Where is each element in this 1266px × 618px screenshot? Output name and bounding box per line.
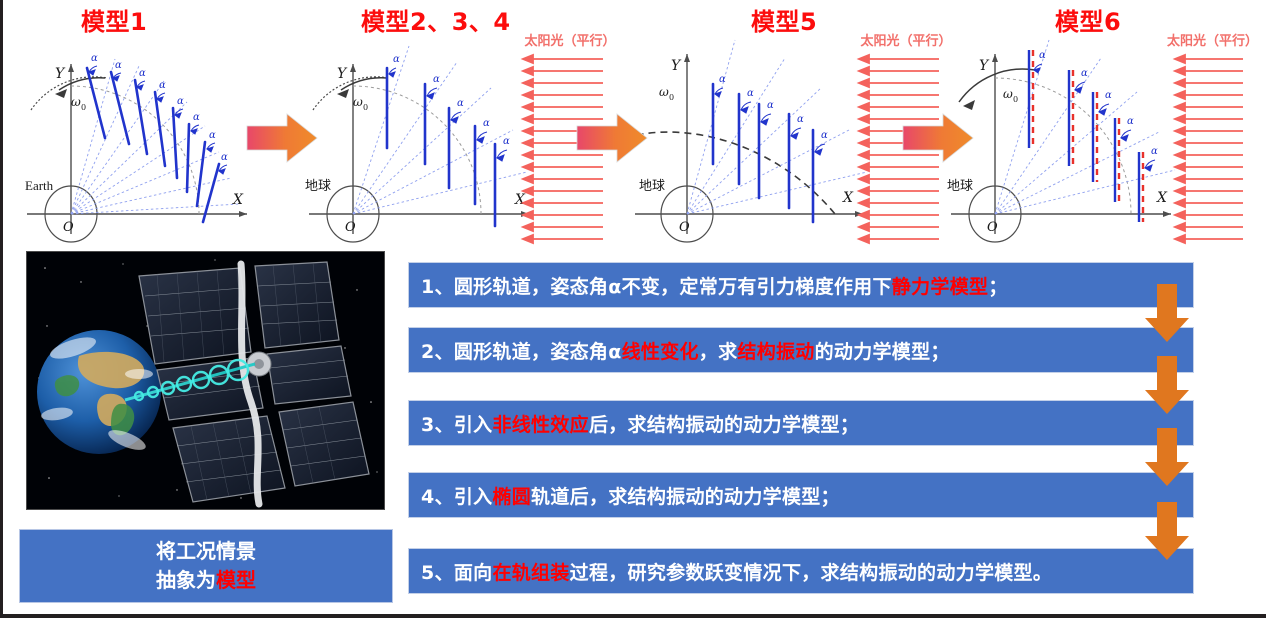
- svg-text:α: α: [719, 74, 726, 85]
- earth-label-5: 地球: [639, 179, 665, 194]
- model-bar-5-seg-0: 面向: [454, 558, 493, 585]
- sunlight-group-3: 太阳光（平行）: [1167, 30, 1266, 254]
- svg-text:X: X: [232, 192, 244, 208]
- svg-text:α: α: [1039, 50, 1046, 61]
- slide-canvas: 模型1 模型2、3、4 模型5 模型6: [3, 0, 1266, 618]
- svg-text:Y: Y: [55, 66, 66, 82]
- caption-line-2-plain: 抽象为: [156, 568, 216, 592]
- bottom-divider: [3, 614, 1266, 618]
- model-bar-2-index: 2、: [421, 337, 454, 364]
- svg-text:Y: Y: [671, 58, 682, 74]
- model-bar-5-seg-2: 过程，研究参数跃变情况下，求结构振动的动力学模型。: [570, 558, 1053, 585]
- transition-arrow-1: [245, 108, 321, 173]
- svg-text:ω: ω: [659, 85, 669, 99]
- svg-text:ω: ω: [71, 95, 81, 109]
- svg-text:α: α: [797, 114, 804, 125]
- flow-arrow-1: [1143, 284, 1195, 349]
- model-bar-4-seg-2: 轨道后，求结构振动的动力学模型；: [531, 482, 840, 509]
- svg-text:α: α: [1105, 90, 1112, 101]
- model-bar-4[interactable]: 4、引入椭圆轨道后，求结构振动的动力学模型；: [408, 472, 1194, 518]
- model-bar-2-seg-2: ，求: [699, 337, 738, 364]
- svg-text:α: α: [209, 130, 216, 141]
- svg-text:α: α: [115, 60, 122, 71]
- diagram-model-234: αα αα α 地球 Y X O ω 0: [301, 26, 551, 248]
- svg-text:α: α: [457, 98, 464, 109]
- sunlight-label-1: 太阳光（平行）: [515, 30, 625, 49]
- transition-arrow-2: [575, 108, 651, 173]
- flow-arrow-4: [1143, 502, 1195, 567]
- model-bar-1-seg-0: 圆形轨道，姿态角α不变，定常万有引力梯度作用下: [454, 272, 892, 299]
- model-bar-2-seg-3: 结构振动: [737, 337, 814, 364]
- svg-text:0: 0: [1013, 95, 1018, 104]
- caption-line-2-highlight: 模型: [216, 568, 256, 592]
- svg-text:α: α: [1151, 146, 1158, 157]
- caption-box: 将工况情景 抽象为模型: [19, 529, 393, 603]
- model-bar-2[interactable]: 2、圆形轨道，姿态角α线性变化，求结构振动的动力学模型；: [408, 327, 1194, 373]
- caption-line-2: 抽象为模型: [156, 566, 256, 595]
- transition-arrow-3: [901, 108, 977, 173]
- model-bar-3-seg-0: 引入: [454, 410, 493, 437]
- svg-text:0: 0: [81, 103, 86, 112]
- model-bar-3-index: 3、: [421, 410, 454, 437]
- model-bar-2-seg-1: 线性变化: [622, 337, 699, 364]
- satellite-illustration: [26, 251, 385, 510]
- svg-text:0: 0: [363, 103, 368, 112]
- diagram-model-1: αα αα αα αα Earth Y X O ω 0: [19, 26, 269, 248]
- svg-text:α: α: [159, 80, 166, 91]
- svg-text:α: α: [483, 118, 490, 129]
- svg-text:α: α: [1081, 68, 1088, 79]
- model-bar-4-seg-0: 引入: [454, 482, 493, 509]
- svg-text:O: O: [987, 220, 998, 235]
- model-bar-5-index: 5、: [421, 558, 454, 585]
- svg-text:O: O: [345, 220, 356, 235]
- svg-text:Y: Y: [979, 58, 990, 74]
- model-bar-3-seg-1: 非线性效应: [492, 410, 589, 437]
- svg-text:α: α: [1127, 116, 1134, 127]
- model-bar-1-index: 1、: [421, 272, 454, 299]
- svg-text:α: α: [821, 130, 828, 141]
- model-bar-4-index: 4、: [421, 482, 454, 509]
- svg-text:α: α: [503, 136, 510, 147]
- sunlight-arrows-3: [1167, 53, 1266, 249]
- model-bar-3-seg-2: 后，求结构振动的动力学模型；: [589, 410, 859, 437]
- svg-text:α: α: [193, 112, 200, 123]
- model-bar-1[interactable]: 1、圆形轨道，姿态角α不变，定常万有引力梯度作用下静力学模型；: [408, 262, 1194, 308]
- svg-text:α: α: [91, 53, 98, 64]
- svg-text:α: α: [139, 68, 146, 79]
- svg-text:α: α: [221, 152, 228, 163]
- svg-text:O: O: [679, 220, 690, 235]
- svg-text:O: O: [63, 220, 74, 235]
- caption-line-1: 将工况情景: [156, 537, 256, 566]
- model-bar-2-seg-0: 圆形轨道，姿态角α: [454, 337, 622, 364]
- model-bar-1-seg-2: ；: [988, 272, 1007, 299]
- svg-text:0: 0: [669, 93, 674, 102]
- svg-text:α: α: [433, 74, 440, 85]
- flow-arrow-2: [1143, 356, 1195, 421]
- diagram-model-5: αα αα α 地球 Y X O ω 0: [635, 26, 885, 248]
- svg-text:Y: Y: [337, 66, 348, 82]
- diagram-model-6: αα αα α 地球 Y X O ω 0: [943, 26, 1193, 248]
- svg-text:ω: ω: [1003, 87, 1013, 101]
- svg-text:α: α: [747, 88, 754, 99]
- svg-text:α: α: [393, 54, 400, 65]
- model-bar-2-seg-4: 的动力学模型；: [815, 337, 950, 364]
- svg-text:ω: ω: [353, 95, 363, 109]
- svg-text:α: α: [767, 100, 774, 111]
- model-bar-5[interactable]: 5、面向在轨组装过程，研究参数跃变情况下，求结构振动的动力学模型。: [408, 548, 1194, 594]
- svg-text:α: α: [177, 96, 184, 107]
- model-bar-3[interactable]: 3、引入非线性效应后，求结构振动的动力学模型；: [408, 400, 1194, 446]
- earth-label-1: Earth: [25, 178, 54, 193]
- earth-label-2: 地球: [305, 179, 331, 194]
- model-bar-5-seg-1: 在轨组装: [492, 558, 569, 585]
- model-bar-1-seg-1: 静力学模型: [892, 272, 989, 299]
- sunlight-label-2: 太阳光（平行）: [851, 30, 961, 49]
- flow-arrow-3: [1143, 428, 1195, 493]
- model-bar-4-seg-1: 椭圆: [492, 482, 531, 509]
- sunlight-label-3: 太阳光（平行）: [1167, 30, 1266, 49]
